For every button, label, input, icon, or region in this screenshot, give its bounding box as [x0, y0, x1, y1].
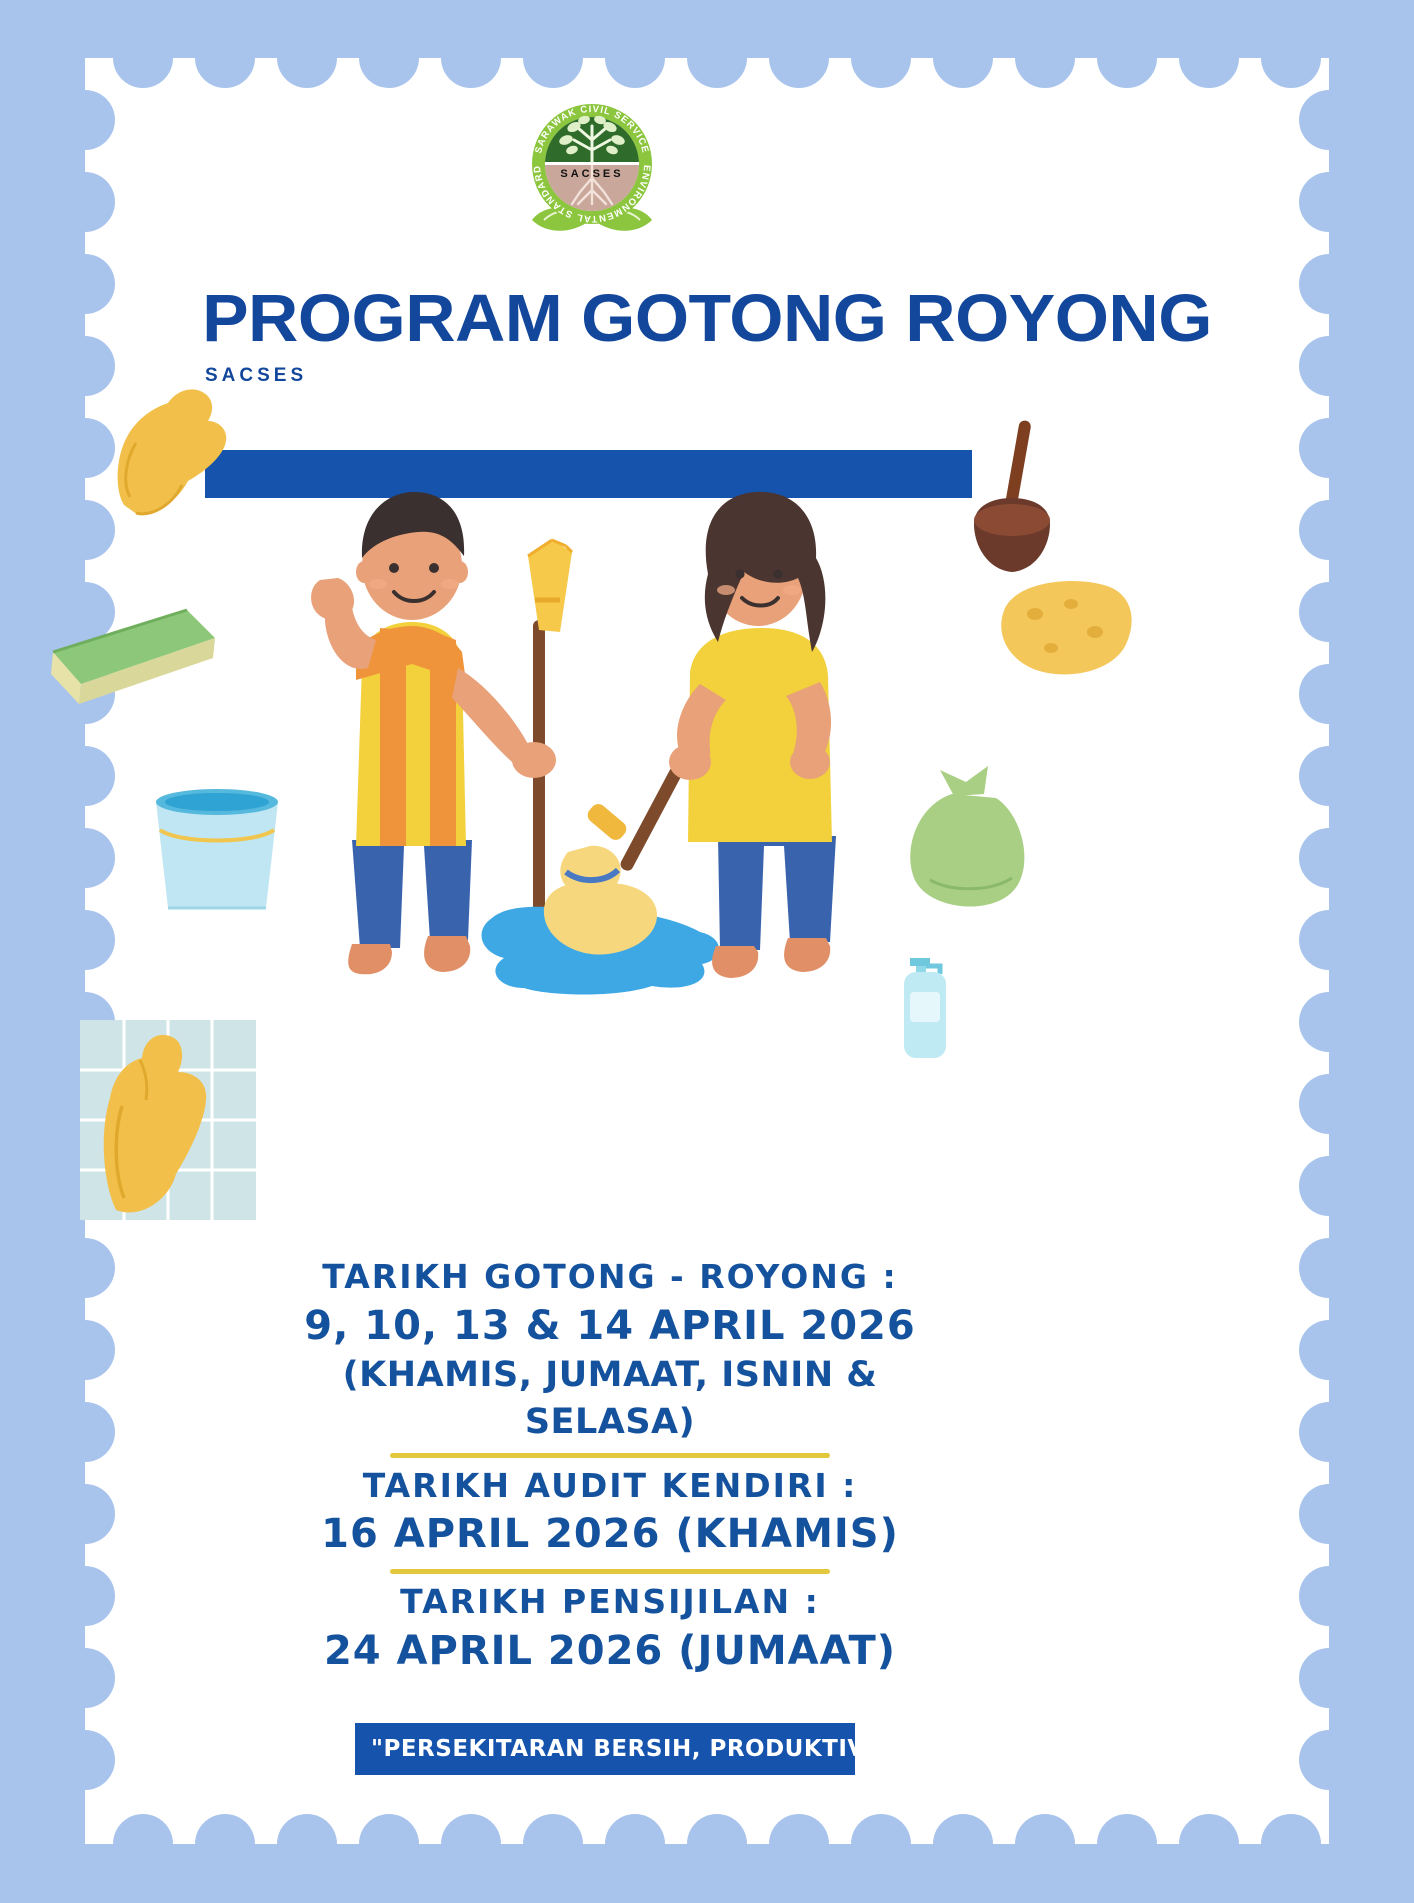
- scallop-dot: [1261, 28, 1321, 88]
- title-underline-bar: [205, 450, 972, 498]
- scallop-dot: [1299, 1402, 1359, 1462]
- scallop-dot: [55, 828, 115, 888]
- scallop-dot: [55, 1484, 115, 1544]
- scallop-dot: [55, 90, 115, 150]
- scallop-dot: [851, 28, 911, 88]
- scallop-dot: [933, 1814, 993, 1874]
- gotong-royong-date: 9, 10, 13 & 14 APRIL 2026: [290, 1300, 930, 1353]
- scallop-dot: [605, 28, 665, 88]
- tagline-banner: "PERSEKITARAN BERSIH, PRODUKTIVITI MENIN…: [355, 1723, 855, 1775]
- scallop-dot: [1299, 664, 1359, 724]
- scallop-dot: [1299, 1730, 1359, 1790]
- scallop-dot: [769, 1814, 829, 1874]
- scallop-dot: [55, 500, 115, 560]
- scallop-dot: [523, 1814, 583, 1874]
- scallop-dot: [277, 28, 337, 88]
- scallop-dot: [55, 1648, 115, 1708]
- pensijilan-label: TARIKH PENSIJILAN :: [290, 1580, 930, 1625]
- page-subtitle: SACSES: [205, 365, 307, 387]
- scallop-dot: [1299, 500, 1359, 560]
- scallop-dot: [195, 28, 255, 88]
- scallop-dot: [55, 582, 115, 642]
- scallop-dot: [687, 1814, 747, 1874]
- gotong-royong-days: (KHAMIS, JUMAAT, ISNIN & SELASA): [290, 1352, 930, 1444]
- scallop-dot: [1299, 746, 1359, 806]
- scallop-dot: [1299, 582, 1359, 642]
- scallop-dot: [55, 1156, 115, 1216]
- audit-label: TARIKH AUDIT KENDIRI :: [290, 1464, 930, 1509]
- sacses-logo: SACSES SARAWAK CIVIL SERVICE ENVIRONMENT…: [492, 100, 692, 260]
- scallop-dot: [1299, 992, 1359, 1052]
- scallop-dot: [1179, 1814, 1239, 1874]
- scallop-dot: [113, 28, 173, 88]
- scallop-dot: [1299, 910, 1359, 970]
- scallop-dot: [1299, 1566, 1359, 1626]
- scallop-dot: [55, 1074, 115, 1134]
- scallop-dot: [55, 418, 115, 478]
- scallop-dot: [55, 664, 115, 724]
- scallop-dot: [523, 28, 583, 88]
- dates-block: TARIKH GOTONG - ROYONG : 9, 10, 13 & 14 …: [290, 1255, 930, 1677]
- scallop-dot: [55, 910, 115, 970]
- scallop-dot: [1299, 1648, 1359, 1708]
- pensijilan-date: 24 APRIL 2026 (JUMAAT): [290, 1625, 930, 1678]
- scallop-dot: [769, 28, 829, 88]
- scallop-dot: [1299, 90, 1359, 150]
- logo-center-text: SACSES: [560, 168, 623, 180]
- scallop-dot: [359, 1814, 419, 1874]
- scallop-dot: [1015, 1814, 1075, 1874]
- scallop-dot: [1299, 1156, 1359, 1216]
- scallop-dot: [1015, 28, 1075, 88]
- divider-rule-1: [390, 1453, 830, 1458]
- scallop-dot: [1299, 1238, 1359, 1298]
- scallop-dot: [55, 1238, 115, 1298]
- audit-date: 16 APRIL 2026 (KHAMIS): [290, 1508, 930, 1561]
- scallop-dot: [1179, 28, 1239, 88]
- tagline-text: "PERSEKITARAN BERSIH, PRODUKTIVITI MENIN…: [355, 1723, 855, 1775]
- scallop-dot: [359, 28, 419, 88]
- scallop-dot: [1299, 1320, 1359, 1380]
- scallop-dot: [441, 28, 501, 88]
- scallop-dot: [441, 1814, 501, 1874]
- scallop-dot: [55, 172, 115, 232]
- poster: SACSES SARAWAK CIVIL SERVICE ENVIRONMENT…: [0, 0, 1414, 1903]
- scallop-dot: [1261, 1814, 1321, 1874]
- scallop-dot: [1299, 418, 1359, 478]
- page-title: PROGRAM GOTONG ROYONG: [0, 284, 1414, 354]
- scallop-dot: [933, 28, 993, 88]
- scallop-dot: [1299, 1074, 1359, 1134]
- scallop-dot: [1097, 1814, 1157, 1874]
- scallop-dot: [55, 746, 115, 806]
- scallop-dot: [1299, 1484, 1359, 1544]
- scallop-dot: [1097, 28, 1157, 88]
- scallop-dot: [687, 28, 747, 88]
- scallop-dot: [195, 1814, 255, 1874]
- scallop-dot: [851, 1814, 911, 1874]
- scallop-dot: [113, 1814, 173, 1874]
- scallop-dot: [1299, 172, 1359, 232]
- scallop-dot: [55, 992, 115, 1052]
- scallop-dot: [277, 1814, 337, 1874]
- scallop-dot: [605, 1814, 665, 1874]
- scallop-dot: [55, 1320, 115, 1380]
- scallop-dot: [55, 1730, 115, 1790]
- scallop-dot: [1299, 828, 1359, 888]
- scallop-dot: [55, 1402, 115, 1462]
- gotong-royong-label: TARIKH GOTONG - ROYONG :: [290, 1255, 930, 1300]
- divider-rule-2: [390, 1569, 830, 1574]
- scallop-dot: [55, 1566, 115, 1626]
